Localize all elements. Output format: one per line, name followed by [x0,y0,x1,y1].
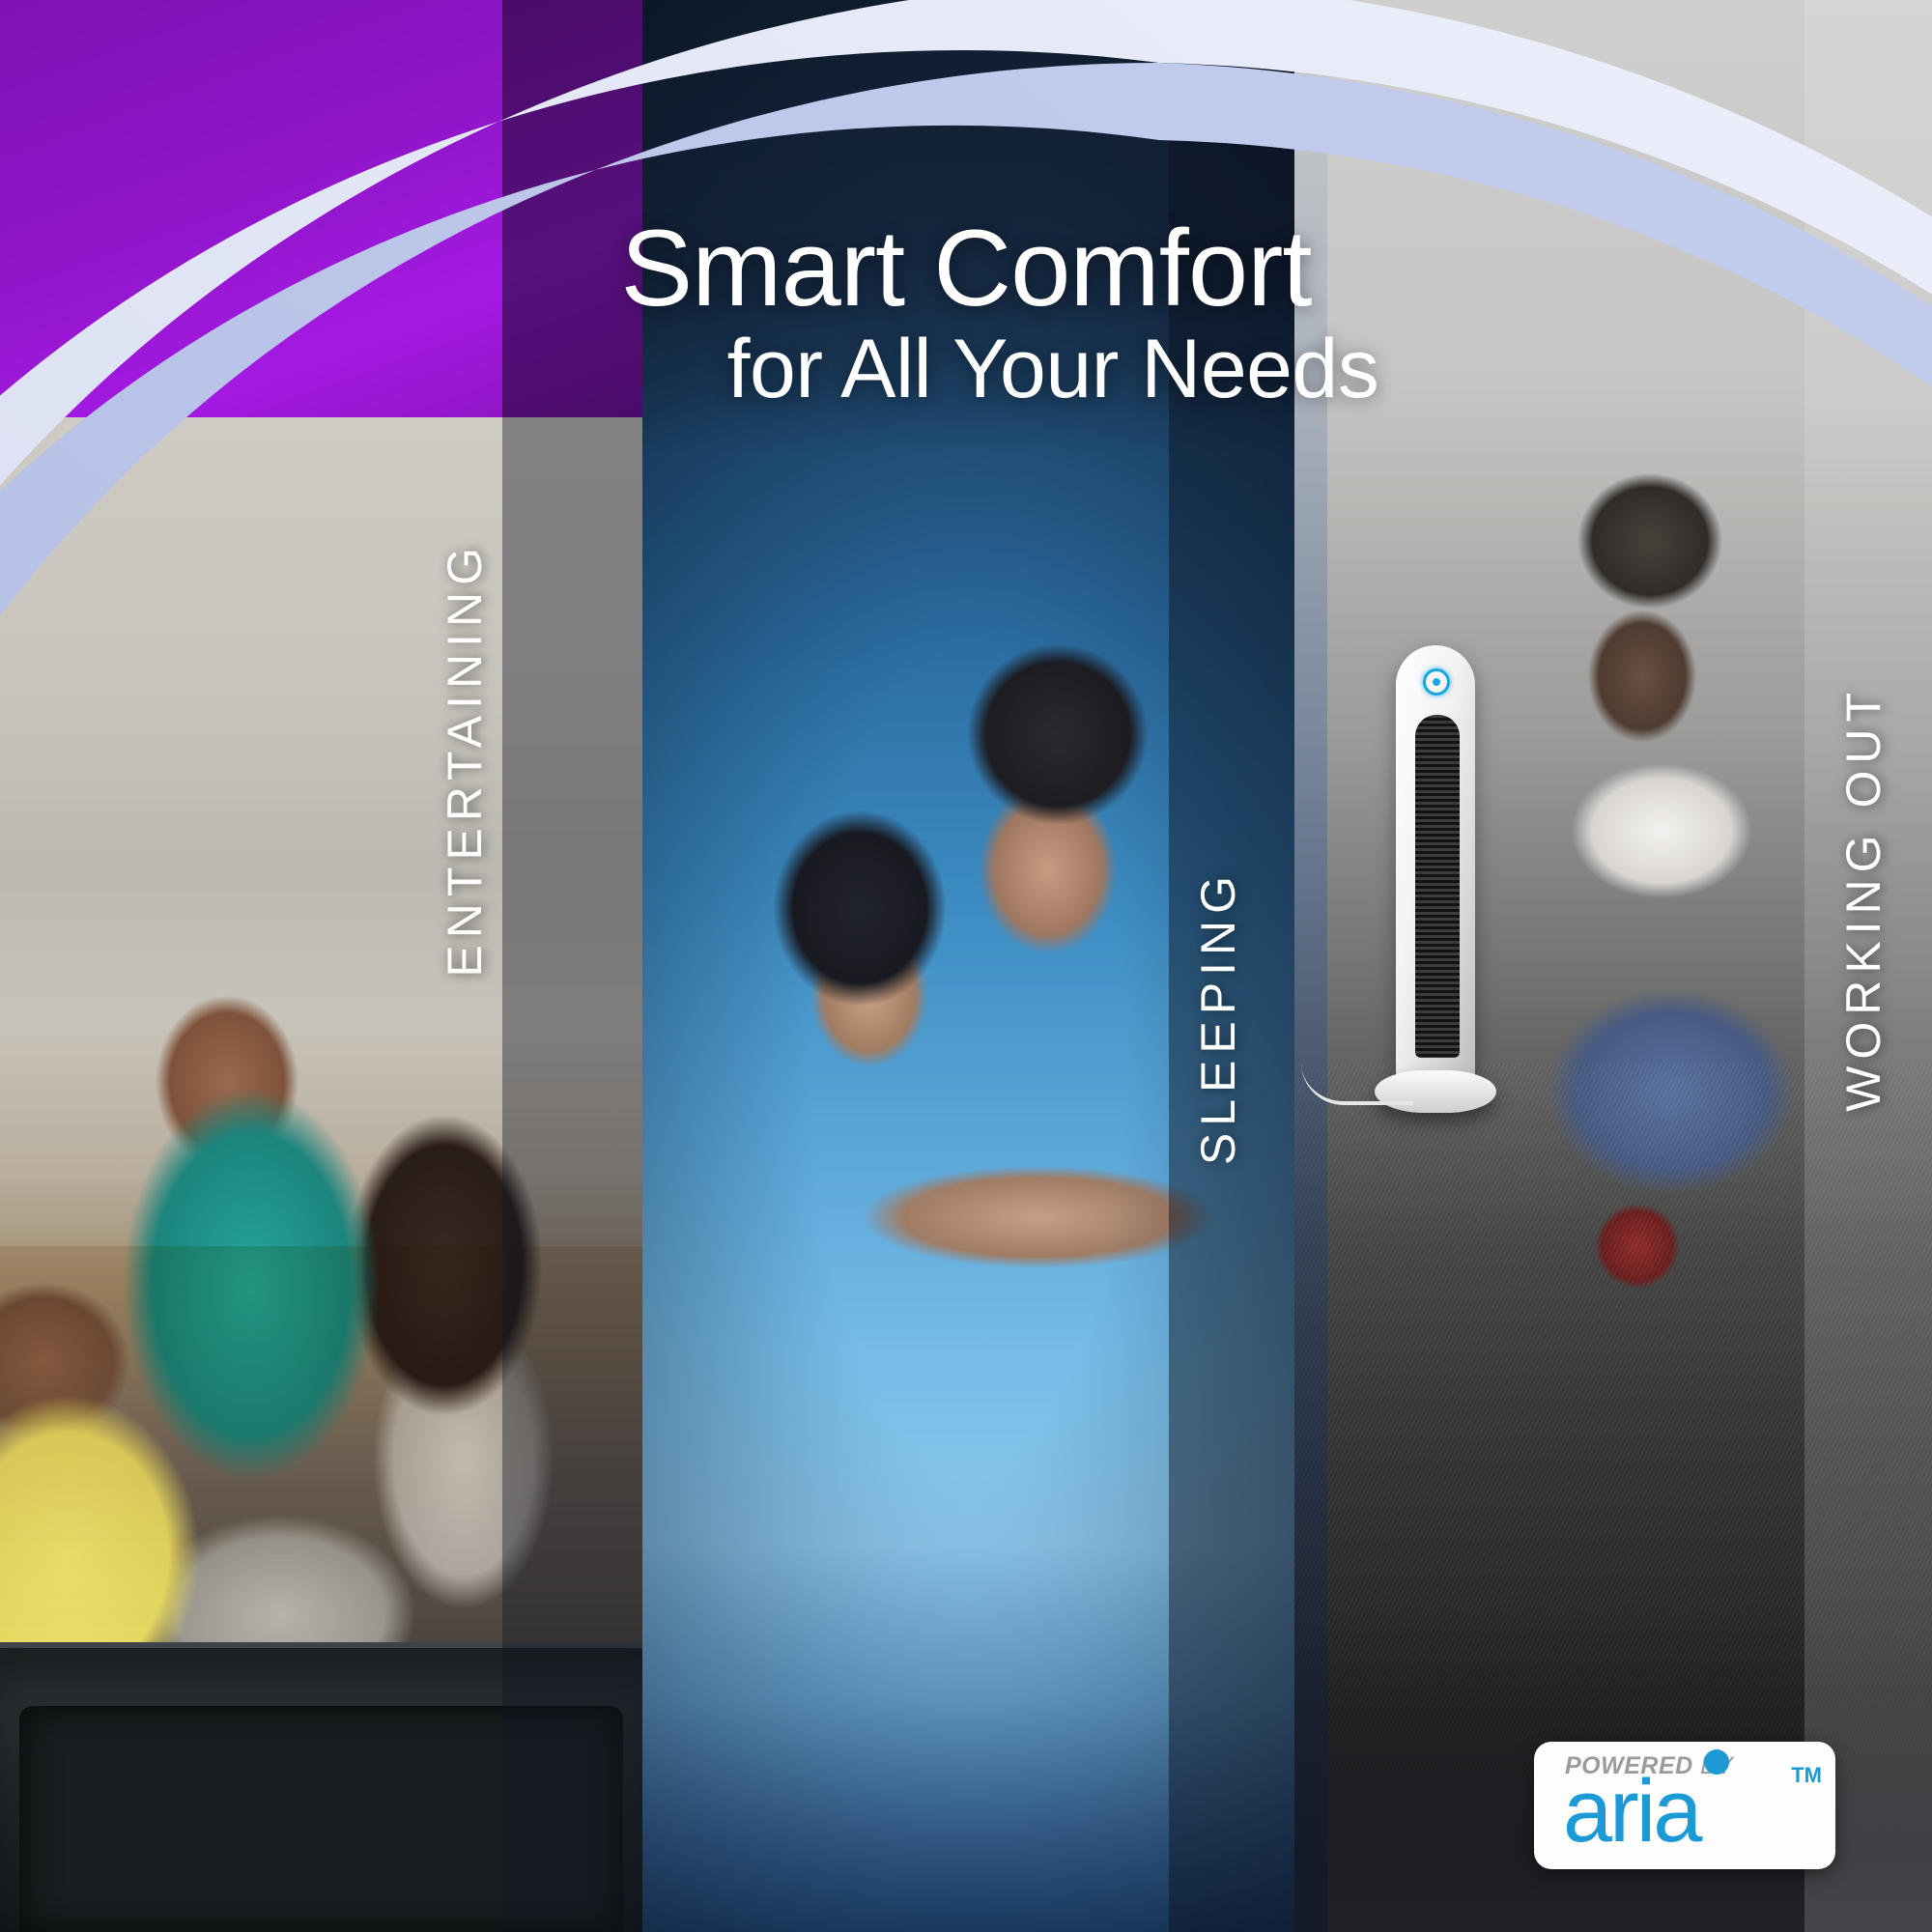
powered-by-aria-logo: POWERED BY aria TM [1534,1742,1835,1869]
headline-line-2: for All Your Needs [0,323,1932,415]
headline-line-1: Smart Comfort [0,214,1932,323]
trademark-symbol: TM [1791,1763,1822,1788]
fan-power-ring-icon [1423,668,1450,696]
aria-i-dot-icon [1704,1749,1729,1775]
aria-wordmark: aria [1563,1767,1699,1856]
panel-label-sleeping: SLEEPING [1190,869,1246,1165]
headline-block: Smart Comfort for All Your Needs [0,214,1932,415]
fan-grille [1415,715,1460,1058]
panel-label-working-out: WORKING OUT [1835,686,1891,1112]
panel-label-entertaining: ENTERTAINING [437,541,493,978]
tower-fan-product [1396,645,1475,1128]
marketing-hero: Smart Comfort for All Your Needs ENTERTA… [0,0,1932,1932]
